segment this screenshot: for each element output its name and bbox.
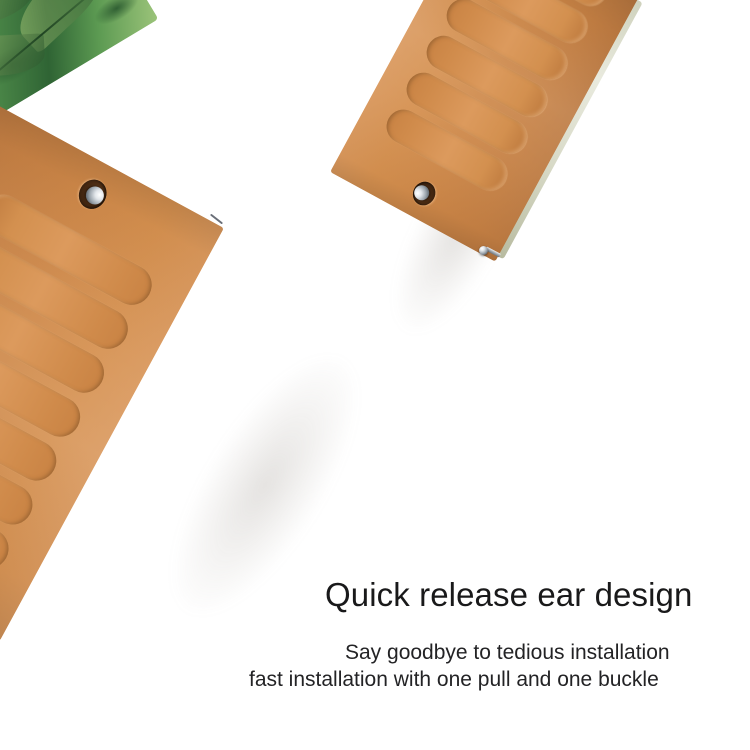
leaf-print-strap	[0, 0, 158, 117]
headline-text: Quick release ear design	[325, 576, 692, 614]
leaf-highlight	[0, 0, 158, 117]
product-image-canvas: Quick release ear design Say goodbye to …	[0, 0, 750, 750]
upper-strap	[330, 0, 645, 266]
subtitle-line-2: fast installation with one pull and one …	[249, 667, 659, 693]
subtitle-line-1: Say goodbye to tedious installation	[345, 640, 670, 666]
spring-bar-head	[479, 246, 488, 255]
